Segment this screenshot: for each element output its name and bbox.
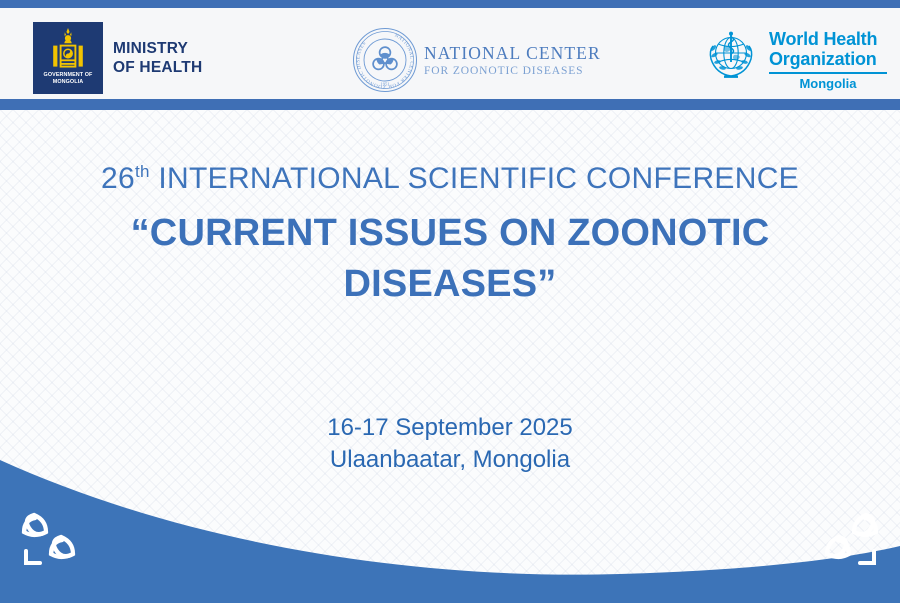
who-logo: World Health Organization Mongolia [700, 28, 887, 91]
top-accent-bar [0, 0, 900, 8]
conference-edition-line: 26th INTERNATIONAL SCIENTIFIC CONFERENCE [0, 160, 900, 198]
who-country-label: Mongolia [769, 76, 887, 91]
conference-theme-line1: “CURRENT ISSUES ON ZOONOTIC [60, 208, 840, 259]
conference-theme-line2: DISEASES” [60, 259, 840, 310]
conference-theme: “CURRENT ISSUES ON ZOONOTIC DISEASES” [0, 208, 900, 310]
ornament-left-icon [14, 501, 102, 581]
event-details: 16-17 September 2025 Ulaanbaatar, Mongol… [0, 412, 900, 476]
event-location: Ulaanbaatar, Mongolia [0, 444, 900, 476]
conference-ordinal: th [135, 162, 150, 181]
zoonotic-seal-icon: NATIONAL CENTER FOR ZOONOTIC DISEASES 19… [352, 27, 418, 93]
national-center-name-line2: FOR ZOONOTIC DISEASES [424, 64, 601, 78]
logo-row: GOVERNMENT OF MONGOLIA MINISTRY OF HEALT… [0, 8, 900, 99]
national-center-name: NATIONAL CENTER FOR ZOONOTIC DISEASES [424, 43, 601, 78]
who-wordmark: World Health Organization Mongolia [769, 29, 887, 91]
national-center-name-line1: NATIONAL CENTER [424, 43, 601, 64]
conference-title-slide: GOVERNMENT OF MONGOLIA MINISTRY OF HEALT… [0, 0, 900, 603]
mongolia-government-emblem: GOVERNMENT OF MONGOLIA [33, 22, 103, 94]
ministry-name-line1: MINISTRY [113, 39, 202, 58]
title-block: 26th INTERNATIONAL SCIENTIFIC CONFERENCE… [0, 160, 900, 310]
who-name-line1: World Health [769, 29, 887, 49]
event-dates: 16-17 September 2025 [0, 412, 900, 444]
ornament-right-icon [798, 501, 886, 581]
who-emblem-icon [700, 28, 762, 86]
who-divider [769, 72, 887, 74]
emblem-caption: GOVERNMENT OF MONGOLIA [44, 72, 93, 86]
seal-year: 1951 [380, 82, 390, 87]
conference-label: INTERNATIONAL SCIENTIFIC CONFERENCE [158, 162, 799, 195]
ministry-of-health-logo: GOVERNMENT OF MONGOLIA MINISTRY OF HEALT… [33, 22, 202, 94]
who-name-line2: Organization [769, 49, 887, 69]
conference-number: 26 [101, 162, 135, 195]
header-accent-bar [0, 99, 900, 110]
emblem-caption-line1: GOVERNMENT OF [44, 72, 93, 78]
ministry-name-line2: OF HEALTH [113, 58, 202, 77]
bottom-wave-decoration [0, 458, 900, 603]
emblem-caption-line2: MONGOLIA [53, 79, 83, 85]
soyombo-icon [48, 26, 88, 70]
ministry-of-health-name: MINISTRY OF HEALTH [113, 39, 202, 77]
national-center-logo: NATIONAL CENTER FOR ZOONOTIC DISEASES 19… [352, 27, 601, 93]
